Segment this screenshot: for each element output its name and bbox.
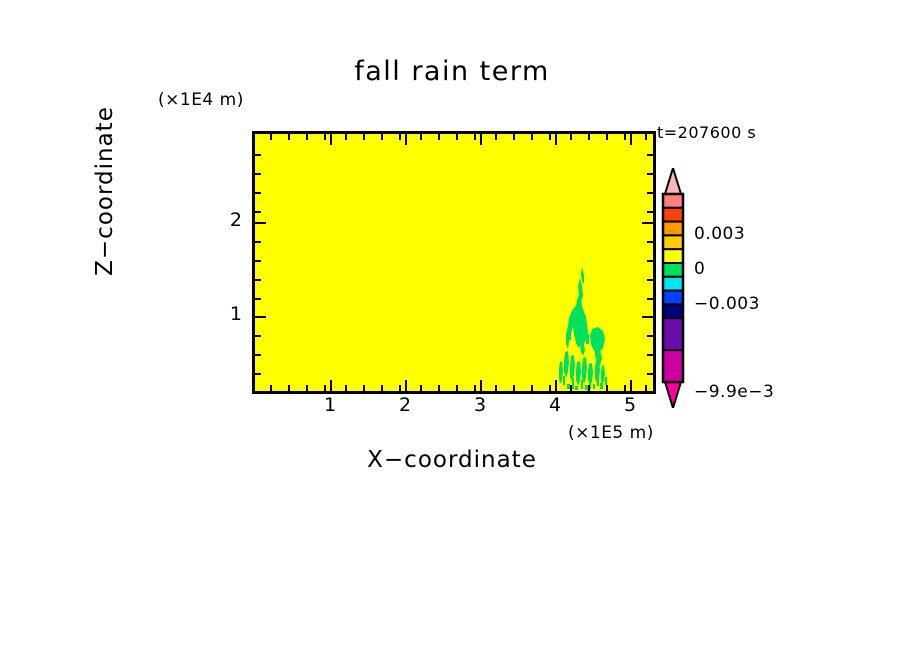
x-axis-unit-label: (×1E5 m): [568, 423, 654, 443]
x-minor-tick: [306, 385, 308, 391]
x-minor-tick: [549, 385, 551, 391]
x-top-minor-tick: [549, 134, 551, 140]
z-right-minor-tick: [647, 335, 653, 337]
colorbar-band: [663, 304, 683, 318]
x-top-minor-tick: [420, 134, 422, 140]
x-minor-tick: [531, 385, 533, 391]
z-tick-label: 2: [212, 209, 242, 231]
x-top-minor-tick: [399, 134, 401, 140]
colorbar-band: [663, 222, 683, 236]
x-tick-label: 4: [535, 394, 575, 416]
colorbar-band: [663, 263, 683, 277]
x-top-major-tick: [555, 134, 557, 145]
colorbar-band: [663, 291, 683, 305]
colorbar-label: −9.9e−3: [694, 382, 774, 402]
z-minor-tick: [255, 373, 261, 375]
z-right-minor-tick: [647, 173, 653, 175]
x-top-minor-tick: [381, 134, 383, 140]
z-right-minor-tick: [647, 260, 653, 262]
x-minor-tick: [288, 385, 290, 391]
colorbar-band: [663, 350, 683, 382]
colorbar-label: 0.003: [694, 224, 745, 244]
colorbar-band: [663, 208, 683, 222]
x-top-major-tick: [630, 134, 632, 145]
x-top-minor-tick: [438, 134, 440, 140]
x-minor-tick: [381, 385, 383, 391]
z-minor-tick: [255, 241, 261, 243]
x-top-minor-tick: [513, 134, 515, 140]
x-tick-label: 3: [460, 394, 500, 416]
z-right-minor-tick: [647, 211, 653, 213]
colorbar-label: −0.003: [694, 294, 760, 314]
z-minor-tick: [255, 335, 261, 337]
z-right-minor-tick: [647, 241, 653, 243]
x-top-minor-tick: [474, 134, 476, 140]
plot-area: [252, 131, 656, 394]
x-top-minor-tick: [570, 134, 572, 140]
x-minor-tick: [495, 385, 497, 391]
z-minor-tick: [255, 354, 261, 356]
z-right-minor-tick: [647, 154, 653, 156]
x-top-minor-tick: [645, 134, 647, 140]
colorbar-swatches: [660, 168, 686, 408]
z-right-minor-tick: [647, 373, 653, 375]
z-tick-label: 1: [212, 303, 242, 325]
colorbar-band: [663, 249, 683, 263]
x-top-minor-tick: [495, 134, 497, 140]
x-minor-tick: [456, 385, 458, 391]
x-tick-label: 2: [385, 394, 425, 416]
z-minor-tick: [255, 154, 261, 156]
x-tick-label: 1: [310, 394, 350, 416]
z-right-minor-tick: [647, 192, 653, 194]
x-minor-tick: [645, 385, 647, 391]
x-minor-tick: [420, 385, 422, 391]
x-minor-tick: [438, 385, 440, 391]
x-minor-tick: [399, 385, 401, 391]
x-axis-title: X−coordinate: [0, 447, 904, 473]
z-right-minor-tick: [647, 354, 653, 356]
x-top-major-tick: [480, 134, 482, 145]
z-axis-title: Z−coordinate: [92, 81, 118, 301]
colorbar-over-arrow: [665, 168, 681, 194]
colorbar-band: [663, 277, 683, 291]
z-minor-tick: [255, 298, 261, 300]
x-major-tick: [555, 380, 557, 391]
colorbar: [660, 168, 686, 408]
x-minor-tick: [570, 385, 572, 391]
figure-canvas: fall rain term (×1E4 m) t=207600 s: [0, 0, 904, 654]
colorbar-label: 0: [694, 259, 705, 279]
x-minor-tick: [324, 385, 326, 391]
z-axis-unit-label: (×1E4 m): [158, 90, 244, 110]
x-top-minor-tick: [531, 134, 533, 140]
x-top-major-tick: [330, 134, 332, 145]
z-right-minor-tick: [647, 298, 653, 300]
colorbar-band: [663, 194, 683, 208]
colorbar-under-arrow: [665, 382, 681, 408]
x-top-minor-tick: [588, 134, 590, 140]
time-annotation: t=207600 s: [657, 123, 756, 142]
x-minor-tick: [606, 385, 608, 391]
x-top-minor-tick: [306, 134, 308, 140]
z-right-major-tick: [642, 316, 653, 318]
x-minor-tick: [363, 385, 365, 391]
colorbar-band: [663, 235, 683, 249]
z-major-tick: [255, 316, 266, 318]
x-top-major-tick: [405, 134, 407, 145]
colorbar-band: [663, 318, 683, 350]
x-minor-tick: [474, 385, 476, 391]
x-tick-label: 5: [610, 394, 650, 416]
x-top-minor-tick: [345, 134, 347, 140]
x-top-minor-tick: [324, 134, 326, 140]
z-minor-tick: [255, 192, 261, 194]
x-top-minor-tick: [606, 134, 608, 140]
x-minor-tick: [270, 385, 272, 391]
x-top-minor-tick: [288, 134, 290, 140]
x-minor-tick: [345, 385, 347, 391]
x-major-tick: [480, 380, 482, 391]
heatmap-field: [255, 134, 653, 391]
x-major-tick: [330, 380, 332, 391]
page-title: fall rain term: [0, 56, 904, 87]
x-top-minor-tick: [456, 134, 458, 140]
x-top-minor-tick: [270, 134, 272, 140]
x-minor-tick: [513, 385, 515, 391]
z-minor-tick: [255, 211, 261, 213]
z-minor-tick: [255, 173, 261, 175]
z-major-tick: [255, 222, 266, 224]
x-minor-tick: [588, 385, 590, 391]
x-top-minor-tick: [624, 134, 626, 140]
x-minor-tick: [624, 385, 626, 391]
x-major-tick: [405, 380, 407, 391]
z-minor-tick: [255, 260, 261, 262]
z-right-major-tick: [642, 222, 653, 224]
z-right-minor-tick: [647, 279, 653, 281]
x-major-tick: [630, 380, 632, 391]
x-top-minor-tick: [363, 134, 365, 140]
z-minor-tick: [255, 279, 261, 281]
